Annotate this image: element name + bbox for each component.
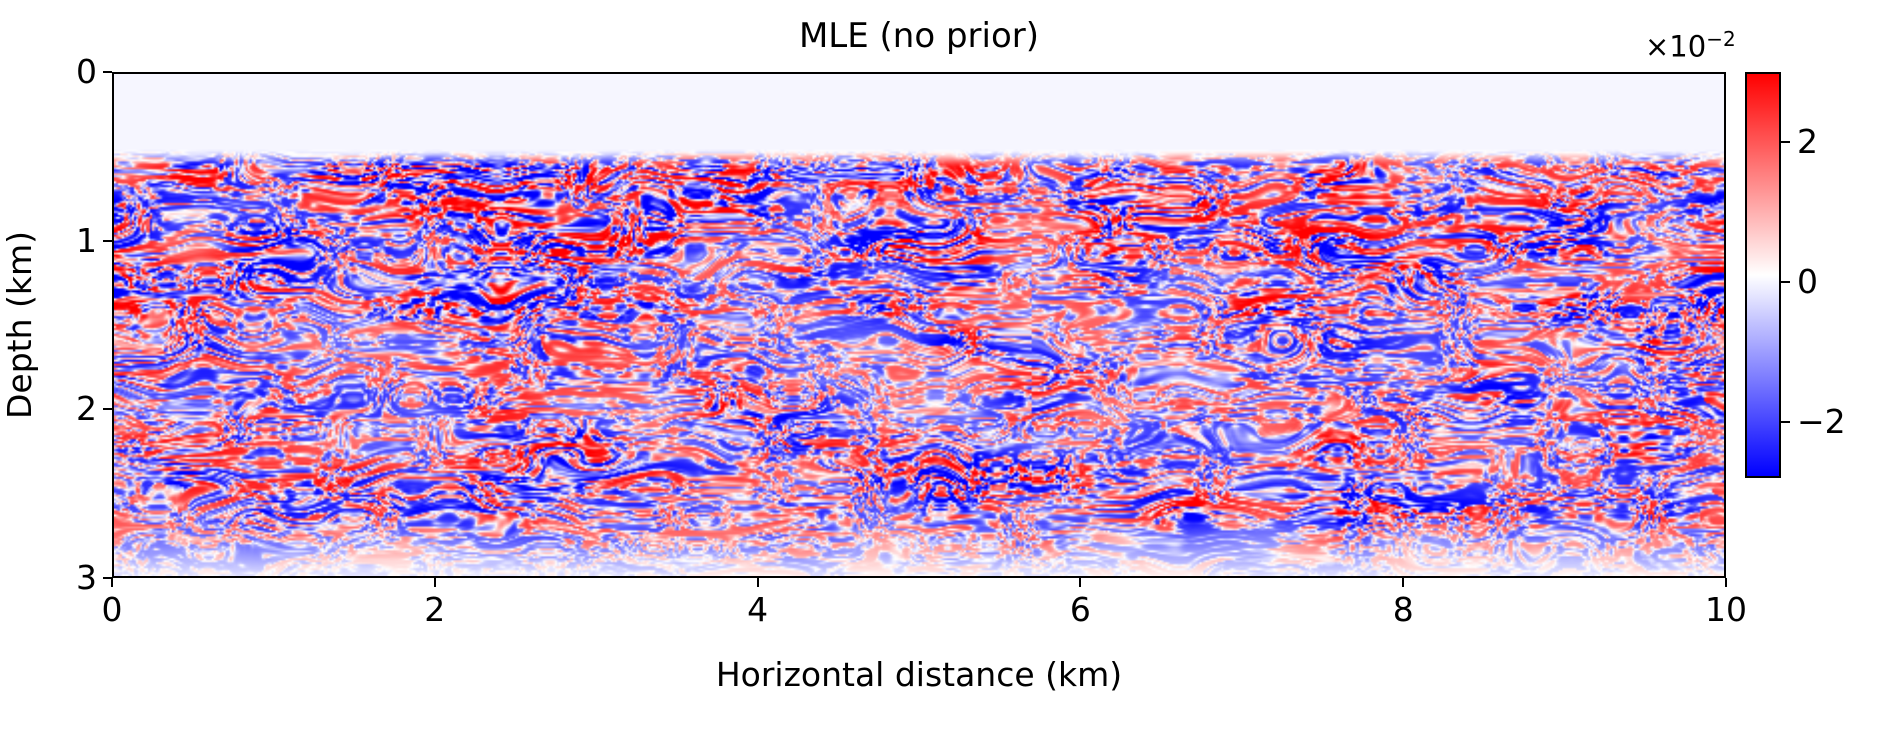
y-tick-mark (103, 240, 112, 242)
x-tick-label: 4 (698, 590, 818, 630)
x-tick-mark (757, 578, 759, 587)
x-tick-label: 8 (1343, 590, 1463, 630)
y-axis-title-text: Depth (km) (0, 231, 40, 419)
seismic-heatmap (114, 74, 1724, 576)
x-tick-mark (1402, 578, 1404, 587)
x-tick-label: 2 (375, 590, 495, 630)
colorbar-exponent-power: −2 (1706, 27, 1735, 51)
y-tick-mark (103, 408, 112, 410)
page-title: MLE (no prior) (112, 16, 1726, 56)
x-tick-label: 10 (1666, 590, 1786, 630)
x-tick-mark (111, 578, 113, 587)
x-tick-mark (1079, 578, 1081, 587)
colorbar-tick-mark (1781, 421, 1790, 423)
y-tick-mark (103, 577, 112, 579)
colorbar-tick-label: 2 (1797, 122, 1818, 162)
x-tick-mark (434, 578, 436, 587)
colorbar-tick-label: −2 (1797, 402, 1846, 442)
seismic-figure: MLE (no prior) 0246810 0123 Horizontal d… (0, 0, 1890, 731)
colorbar-frame (1745, 72, 1781, 478)
x-tick-label: 6 (1020, 590, 1140, 630)
x-axis-title: Horizontal distance (km) (112, 655, 1726, 695)
seismic-image-axes (112, 72, 1726, 578)
colorbar-tick-mark (1781, 141, 1790, 143)
x-tick-mark (1725, 578, 1727, 587)
y-tick-mark (103, 71, 112, 73)
colorbar-tick-mark (1781, 281, 1790, 283)
colorbar-gradient (1747, 74, 1779, 476)
colorbar: 20−2 (1745, 72, 1781, 478)
colorbar-exponent: ×10−2 (1645, 22, 1736, 64)
y-axis-title: Depth (km) (0, 72, 40, 578)
colorbar-tick-label: 0 (1797, 262, 1818, 302)
colorbar-exponent-base: ×10 (1645, 30, 1706, 64)
